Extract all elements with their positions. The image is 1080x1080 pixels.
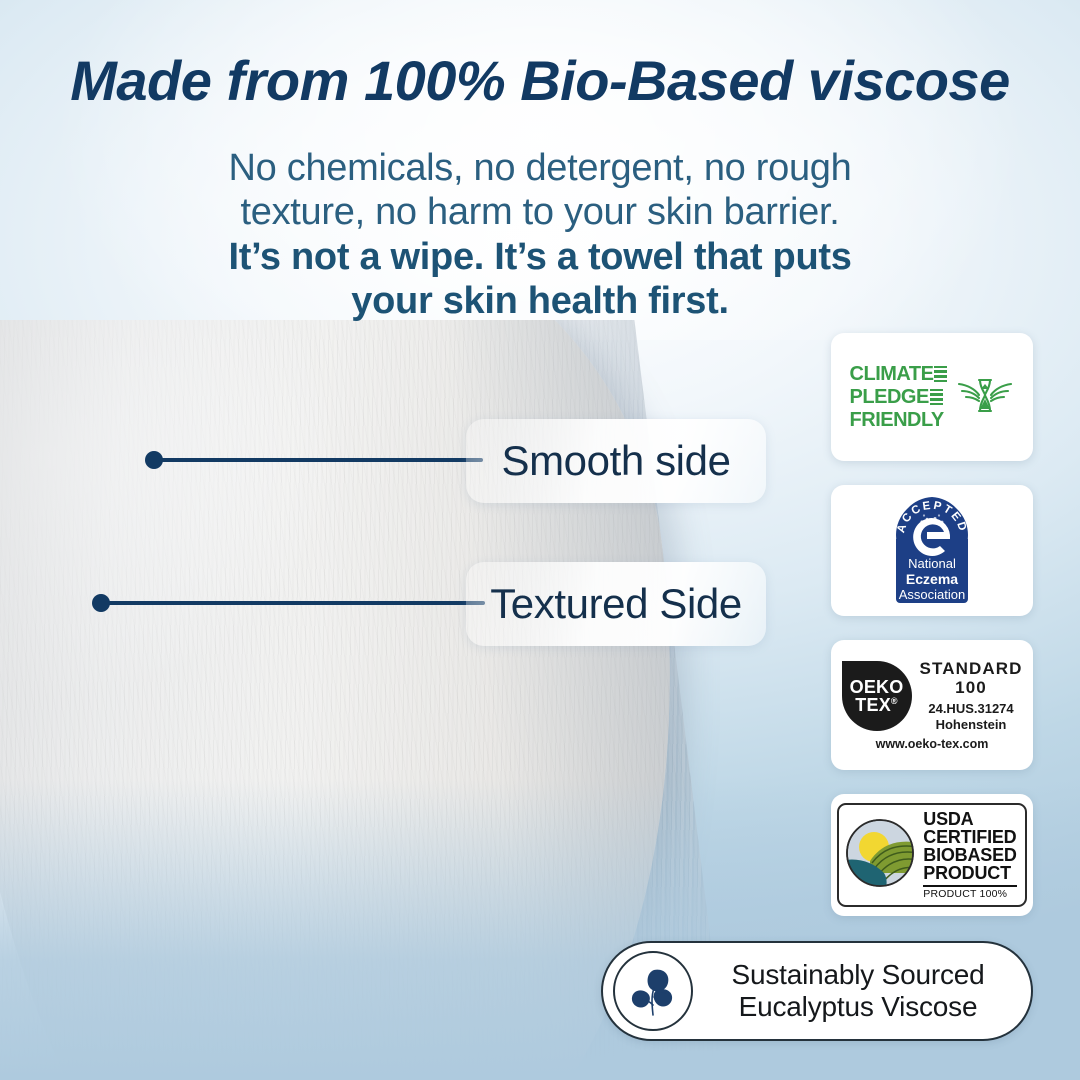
oeko-url: www.oeko-tex.com: [876, 737, 989, 751]
oeko-institute: Hohenstein: [920, 717, 1023, 733]
callout-smooth-label: Smooth side: [501, 437, 730, 485]
callout-textured-label: Textured Side: [490, 580, 742, 628]
subcopy-block: No chemicals, no detergent, no rough tex…: [0, 146, 1080, 324]
climate-pledge-bars-icon: [934, 366, 947, 382]
climate-pledge-line-1: CLIMATE: [850, 364, 934, 384]
subcopy-line-1: No chemicals, no detergent, no rough: [0, 146, 1080, 190]
usda-line-2: CERTIFIED: [923, 828, 1016, 846]
eucalyptus-leaf-icon: [613, 951, 693, 1031]
climate-pledge-line-2: PLEDGE: [850, 387, 929, 407]
usda-line-1: USDA: [923, 810, 1016, 828]
callout-textured-side: Textured Side: [466, 562, 766, 646]
svg-text:Association: Association: [899, 587, 965, 602]
sustainably-sourced-banner: Sustainably Sourced Eucalyptus Viscose: [601, 941, 1033, 1041]
leader-dot-smooth: [145, 451, 163, 469]
climate-pledge-bars-icon-2: [930, 389, 943, 405]
oeko-cert-number: 24.HUS.31274: [920, 701, 1023, 717]
climate-pledge-wordmark: CLIMATE PLEDGE FRIENDLY: [850, 364, 948, 430]
oeko-mark-line-2: TEX®: [855, 696, 897, 714]
badge-oeko-tex: OEKO TEX® STANDARD 100 24.HUS.31274 Hohe…: [831, 640, 1033, 770]
sustain-line-1: Sustainably Sourced: [693, 959, 1023, 991]
badge-national-eczema-association: ACCEPTED National Eczema: [831, 485, 1033, 616]
subcopy-line-2: texture, no harm to your skin barrier.: [0, 190, 1080, 234]
oeko-standard-label: STANDARD: [920, 659, 1023, 678]
badge-climate-pledge-friendly: CLIMATE PLEDGE FRIENDLY: [831, 333, 1033, 461]
oeko-tex-mark-icon: OEKO TEX®: [842, 661, 912, 731]
leader-dot-textured: [92, 594, 110, 612]
usda-divider: [923, 885, 1016, 887]
certification-badge-list: CLIMATE PLEDGE FRIENDLY: [831, 333, 1033, 940]
farm-landscape-icon: [844, 817, 916, 894]
subcopy-line-4: your skin health first.: [0, 279, 1080, 323]
oeko-standard-number: 100: [920, 678, 1023, 697]
eczema-shield-icon: ACCEPTED National Eczema: [880, 495, 984, 607]
usda-line-3: BIOBASED: [923, 846, 1016, 864]
page-title: Made from 100% Bio-Based viscose: [0, 48, 1080, 113]
leader-line-textured: [100, 601, 485, 605]
subcopy-line-3: It’s not a wipe. It’s a towel that puts: [0, 235, 1080, 279]
leader-line-smooth: [153, 458, 483, 462]
callout-smooth-side: Smooth side: [466, 419, 766, 503]
usda-line-4: PRODUCT: [923, 864, 1016, 882]
winged-hourglass-icon: [956, 371, 1014, 424]
climate-pledge-line-3: FRIENDLY: [850, 410, 944, 430]
promo-image: Made from 100% Bio-Based viscose No chem…: [0, 0, 1080, 1080]
svg-text:Eczema: Eczema: [906, 571, 958, 587]
sustain-line-2: Eucalyptus Viscose: [693, 991, 1023, 1023]
oeko-mark-line-1: OEKO: [850, 678, 904, 696]
usda-footnote: PRODUCT 100%: [923, 889, 1016, 900]
svg-text:National: National: [908, 556, 956, 571]
badge-usda-biobased: USDA CERTIFIED BIOBASED PRODUCT PRODUCT …: [831, 794, 1033, 916]
